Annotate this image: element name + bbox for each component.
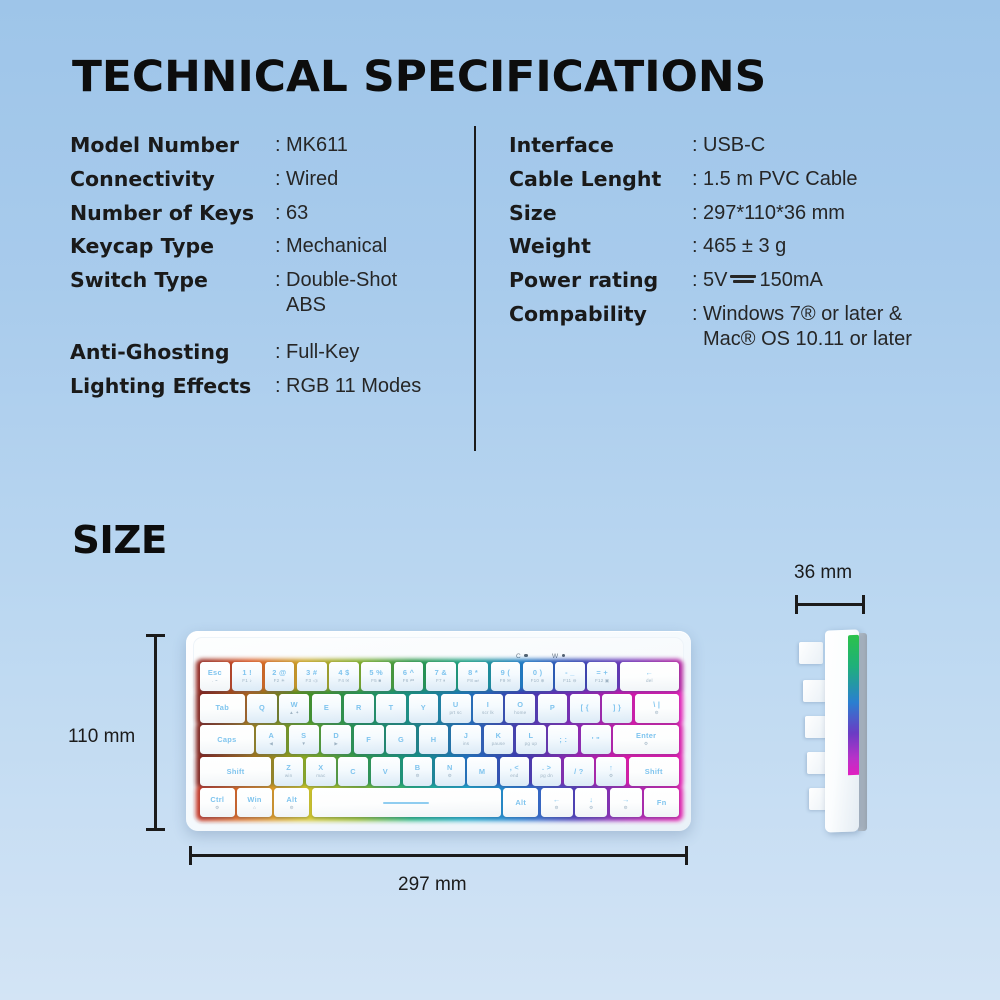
key-space[interactable]: [ { <box>570 694 600 723</box>
section-title-size: SIZE <box>72 518 167 562</box>
key-sublegend: F12 ▣ <box>595 679 610 684</box>
key-e[interactable]: E <box>312 694 342 723</box>
dc-power-symbol-icon <box>730 273 756 285</box>
spec-separator: : <box>275 167 286 192</box>
key-2[interactable]: 2 @F2 ☀ <box>265 662 295 691</box>
key-legend: M <box>479 768 485 775</box>
key-sublegend: F9 ✉ <box>500 679 511 684</box>
dimension-line-depth <box>795 595 865 614</box>
spec-separator: : <box>275 374 286 399</box>
key-legend: / ? <box>574 768 584 775</box>
spec-list-right: Interface:USB-CCable Lenght:1.5 m PVC Ca… <box>509 133 959 361</box>
spec-key: Weight <box>509 234 692 258</box>
key-l[interactable]: Lpg up <box>516 725 546 754</box>
key-legend: X <box>318 764 323 771</box>
key-w[interactable]: W▲ ✦ <box>279 694 309 723</box>
dimension-label-depth: 36 mm <box>794 562 852 584</box>
key-legend: Z <box>286 764 291 771</box>
spec-key: Model Number <box>70 133 275 157</box>
led-dot-icon <box>524 654 527 657</box>
key-legend: Shift <box>227 768 245 775</box>
key-sublegend: end <box>510 774 518 779</box>
key-sublegend: ⚙ <box>589 806 593 811</box>
spec-separator: : <box>275 133 286 158</box>
key-n[interactable]: N⚙ <box>435 757 465 786</box>
key-legend: Alt <box>286 796 297 803</box>
key-sublegend: pg dn <box>540 774 553 779</box>
key-j[interactable]: Jins <box>451 725 481 754</box>
key-sublegend: F7 ⏸ <box>436 679 446 684</box>
key-z[interactable]: Zwin <box>274 757 304 786</box>
key-sublegend: ⚙ <box>555 806 559 811</box>
key-sublegend: F3 ◁ı <box>305 679 317 684</box>
key-alt[interactable]: Alt⚙ <box>274 788 309 817</box>
key-sublegend: home <box>514 711 526 716</box>
key-legend: 7 & <box>435 669 447 676</box>
key-legend: 6 ^ <box>403 669 414 676</box>
spec-key: Keycap Type <box>70 234 275 258</box>
key-space[interactable]: . >pg dn <box>532 757 562 786</box>
key-s[interactable]: S▼ <box>289 725 319 754</box>
key-ctrl[interactable]: Ctrl⚙ <box>200 788 235 817</box>
key-space[interactable]: ↓⚙ <box>575 788 607 817</box>
key-r[interactable]: R <box>344 694 374 723</box>
key-shift[interactable]: Shift <box>200 757 271 786</box>
key-d[interactable]: D▶ <box>321 725 351 754</box>
key-legend: T <box>389 704 394 711</box>
key-legend: , < <box>510 764 519 771</box>
key-legend: Y <box>421 704 426 711</box>
key-space[interactable]: ; : <box>548 725 578 754</box>
key-u[interactable]: Uprt sc <box>441 694 471 723</box>
key-sublegend: mac <box>316 774 325 779</box>
key-legend: Shift <box>645 768 663 775</box>
key-legend: S <box>301 732 306 739</box>
key-sublegend: pause <box>492 742 506 747</box>
key-legend: R <box>356 704 362 711</box>
key-legend: C <box>350 768 356 775</box>
spacebar-indicator <box>383 802 429 805</box>
key-legend: → <box>622 796 630 803</box>
key-legend: V <box>383 768 388 775</box>
key-legend: U <box>453 701 459 708</box>
spec-separator: : <box>692 302 703 327</box>
spec-key: Power rating <box>509 268 692 292</box>
key-row: Esc. ~1 !F1 ♪2 @F2 ☀3 #F3 ◁ı4 $F4 ✉5 %F5… <box>200 662 679 691</box>
spec-list-left: Model Number:MK611Connectivity:WiredNumb… <box>70 133 450 407</box>
spec-row: Switch Type:Double-Shot ABS <box>70 268 450 318</box>
key-legend: Fn <box>657 799 667 806</box>
key-sublegend: ins <box>463 742 469 747</box>
key-space[interactable]: ' " <box>581 725 611 754</box>
key-legend: 4 $ <box>338 669 349 676</box>
key-enter[interactable]: Enter⚙ <box>613 725 679 754</box>
spec-separator: : <box>692 133 703 158</box>
spec-row: Lighting Effects:RGB 11 Modes <box>70 374 450 399</box>
spec-separator: : <box>275 234 286 259</box>
key-legend: 5 % <box>369 669 383 676</box>
key-sublegend: ▶ <box>334 742 338 747</box>
spec-value: USB-C <box>703 133 765 158</box>
spec-value: RGB 11 Modes <box>286 374 421 399</box>
key-sublegend: ⚙ <box>215 806 219 811</box>
key-space[interactable]: \ |⚙ <box>635 694 680 723</box>
key-sublegend: F6 ⏮ <box>403 679 415 684</box>
key-legend: F <box>366 736 371 743</box>
key-alt[interactable]: Alt <box>503 788 538 817</box>
spec-row: Size:297*110*36 mm <box>509 201 959 226</box>
spec-row: Power rating:5V150mA <box>509 268 959 293</box>
key-sublegend: ⚙ <box>609 774 613 779</box>
spec-separator: : <box>692 268 703 293</box>
key-4[interactable]: 4 $F4 ✉ <box>329 662 359 691</box>
key-legend: I <box>487 701 489 708</box>
key-shift[interactable]: Shift <box>629 757 679 786</box>
column-divider <box>474 126 476 451</box>
side-key-row-2 <box>803 680 827 702</box>
key-win[interactable]: Win⌂ <box>237 788 272 817</box>
key-sublegend: . ~ <box>212 679 218 684</box>
key-legend: N <box>447 764 453 771</box>
spec-separator: : <box>692 201 703 226</box>
spec-key: Compability <box>509 302 692 326</box>
key-sublegend: prt sc <box>449 711 461 716</box>
spec-key: Lighting Effects <box>70 374 275 398</box>
spec-key: Size <box>509 201 692 225</box>
led-dot-icon <box>562 654 565 657</box>
spec-separator: : <box>692 234 703 259</box>
key-sublegend: ▲ ✦ <box>289 711 299 716</box>
spec-key: Number of Keys <box>70 201 275 225</box>
spec-separator: : <box>692 167 703 192</box>
key-sublegend: scr lk <box>482 711 494 716</box>
spec-key: Cable Lenght <box>509 167 692 191</box>
key-space[interactable]: ←⚙ <box>541 788 573 817</box>
spec-key: Switch Type <box>70 268 275 292</box>
key-legend: P <box>550 704 555 711</box>
key-legend: \ | <box>653 701 660 708</box>
key-legend: A <box>268 732 274 739</box>
key-f[interactable]: F <box>354 725 384 754</box>
key-sublegend: del <box>646 679 653 684</box>
key-legend: Ctrl <box>210 796 224 803</box>
spec-value: 297*110*36 mm <box>703 201 845 226</box>
key-x[interactable]: Xmac <box>306 757 336 786</box>
key-b[interactable]: B⚙ <box>403 757 433 786</box>
key-caps[interactable]: Caps <box>200 725 254 754</box>
key-3[interactable]: 3 #F3 ◁ı <box>297 662 327 691</box>
key-legend: Tab <box>216 704 230 711</box>
key-9[interactable]: 9 (F9 ✉ <box>491 662 521 691</box>
key-legend: . > <box>542 764 551 771</box>
key-legend: H <box>431 736 437 743</box>
spec-value: 465 ± 3 g <box>703 234 786 259</box>
key-legend: Win <box>247 796 261 803</box>
key-q[interactable]: Q <box>247 694 277 723</box>
key-o[interactable]: Ohome <box>505 694 535 723</box>
side-key-row-1 <box>799 642 823 664</box>
spec-row: Cable Lenght:1.5 m PVC Cable <box>509 167 959 192</box>
spec-row: Model Number:MK611 <box>70 133 450 158</box>
key-v[interactable]: V <box>371 757 401 786</box>
key-legend: Esc <box>208 669 222 676</box>
key-sublegend: F10 ⊕ <box>531 679 545 684</box>
key-g[interactable]: G <box>386 725 416 754</box>
key-sublegend: ⚙ <box>655 711 659 716</box>
key-legend: D <box>333 732 339 739</box>
key-row: TabQW▲ ✦ERTYUprt scIscr lkOhomeP[ {] }\ … <box>200 694 679 723</box>
key-row: ShiftZwinXmacCVB⚙N⚙M, <end. >pg dn/ ?↑⚙S… <box>200 757 679 786</box>
key-legend: ↓ <box>589 796 593 803</box>
spec-value: Double-Shot ABS <box>286 268 397 318</box>
key-row: CapsA◀S▼D▶FGHJinsKpauseLpg up; :' "Enter… <box>200 725 679 754</box>
key-6[interactable]: 6 ^F6 ⏮ <box>394 662 424 691</box>
key-legend: W <box>291 701 298 708</box>
key-legend: 9 ( <box>501 669 511 676</box>
spec-separator: : <box>275 268 286 293</box>
key-i[interactable]: Iscr lk <box>473 694 503 723</box>
key-legend: Q <box>259 704 265 711</box>
key-p[interactable]: P <box>538 694 568 723</box>
key-t[interactable]: T <box>376 694 406 723</box>
key-sublegend: pg up <box>525 742 538 747</box>
key-sublegend: ⚙ <box>624 806 628 811</box>
key-sublegend: ▼ <box>301 742 306 747</box>
key-sublegend: ⚙ <box>448 774 452 779</box>
key-legend: G <box>398 736 404 743</box>
dimension-line-width <box>189 846 688 865</box>
key-space[interactable] <box>312 788 501 817</box>
key-sublegend: ⚙ <box>415 774 419 779</box>
key-sublegend: F2 ☀ <box>274 679 286 684</box>
key-legend: Alt <box>515 799 526 806</box>
key-8[interactable]: 8 *F8 ⏭ <box>458 662 488 691</box>
key-legend: Enter <box>636 732 656 739</box>
spec-separator: : <box>275 201 286 226</box>
spec-row: Connectivity:Wired <box>70 167 450 192</box>
spec-key: Interface <box>509 133 692 157</box>
key-legend: E <box>324 704 329 711</box>
spec-row: Interface:USB-C <box>509 133 959 158</box>
key-space[interactable]: →⚙ <box>610 788 642 817</box>
key-sublegend: F11 ⊖ <box>563 679 577 684</box>
dimension-line-height <box>146 634 165 831</box>
key-legend: J <box>464 732 468 739</box>
page-title-specifications: TECHNICAL SPECIFICATIONS <box>72 52 766 102</box>
key-legend: 2 @ <box>272 669 286 676</box>
spec-value: Windows 7® or later & Mac® OS 10.11 or l… <box>703 302 912 352</box>
spec-key: Anti-Ghosting <box>70 340 275 364</box>
key-legend: 1 ! <box>242 669 252 676</box>
key-space[interactable]: ↑⚙ <box>596 757 626 786</box>
spec-value: Wired <box>286 167 338 192</box>
key-space[interactable]: - _F11 ⊖ <box>555 662 585 691</box>
key-tab[interactable]: Tab <box>200 694 245 723</box>
key-sublegend: F5 ■ <box>371 679 381 684</box>
side-rgb-light-strip <box>848 635 859 775</box>
key-sublegend: F8 ⏭ <box>467 679 479 684</box>
key-space[interactable]: = +F12 ▣ <box>587 662 617 691</box>
spec-row: Anti-Ghosting:Full-Key <box>70 340 450 365</box>
key-a[interactable]: A◀ <box>256 725 286 754</box>
dimension-label-width: 297 mm <box>398 874 467 896</box>
key-legend: O <box>517 701 523 708</box>
key-grid: Esc. ~1 !F1 ♪2 @F2 ☀3 #F3 ◁ı4 $F4 ✉5 %F5… <box>200 662 679 820</box>
key-legend: ← <box>553 796 561 803</box>
key-legend: ← <box>645 669 653 676</box>
side-back-panel <box>858 633 867 831</box>
key-7[interactable]: 7 &F7 ⏸ <box>426 662 456 691</box>
key-h[interactable]: H <box>419 725 449 754</box>
spec-key: Connectivity <box>70 167 275 191</box>
key-sublegend: F1 ♪ <box>242 679 252 684</box>
key-sublegend: F4 ✉ <box>338 679 349 684</box>
dimension-label-height: 110 mm <box>68 726 135 748</box>
key-fn[interactable]: Fn <box>644 788 679 817</box>
key-legend: 3 # <box>306 669 317 676</box>
key-0[interactable]: 0 )F10 ⊕ <box>523 662 553 691</box>
infographic-page: TECHNICAL SPECIFICATIONS Model Number:MK… <box>0 0 1000 1000</box>
key-legend: ; : <box>559 736 567 743</box>
keyboard-top-view: C W Esc. ~1 !F1 ♪2 @F2 ☀3 #F3 ◁ı4 $F4 ✉5… <box>186 631 691 831</box>
key-space[interactable]: ] } <box>602 694 632 723</box>
spec-row: Weight:465 ± 3 g <box>509 234 959 259</box>
key-legend: L <box>528 732 533 739</box>
spec-value: 5V150mA <box>703 268 823 293</box>
key-sublegend: ⚙ <box>644 742 648 747</box>
key-m[interactable]: M <box>467 757 497 786</box>
key-y[interactable]: Y <box>409 694 439 723</box>
spec-row: Number of Keys:63 <box>70 201 450 226</box>
key-legend: - _ <box>565 669 575 676</box>
key-space[interactable]: / ? <box>564 757 594 786</box>
key-legend: ' " <box>592 736 600 743</box>
spec-value: 1.5 m PVC Cable <box>703 167 858 192</box>
key-5[interactable]: 5 %F5 ■ <box>361 662 391 691</box>
key-c[interactable]: C <box>338 757 368 786</box>
spec-row: Compability:Windows 7® or later & Mac® O… <box>509 302 959 352</box>
key-sublegend: win <box>285 774 293 779</box>
key-legend: = + <box>596 669 608 676</box>
key-legend: 8 * <box>468 669 478 676</box>
key-space[interactable]: ←del <box>620 662 679 691</box>
spec-row: Keycap Type:Mechanical <box>70 234 450 259</box>
spec-separator: : <box>275 340 286 365</box>
key-row: Ctrl⚙Win⌂Alt⚙Alt←⚙↓⚙→⚙Fn <box>200 788 679 817</box>
key-legend: 0 ) <box>533 669 543 676</box>
key-k[interactable]: Kpause <box>484 725 514 754</box>
key-space[interactable]: , <end <box>500 757 530 786</box>
key-sublegend: ⚙ <box>290 806 294 811</box>
key-sublegend: ⌂ <box>253 806 256 811</box>
spec-value: Full-Key <box>286 340 359 365</box>
spec-value: 63 <box>286 201 308 226</box>
key-legend: Caps <box>217 736 236 743</box>
key-legend: [ { <box>581 704 589 711</box>
key-legend: K <box>496 732 502 739</box>
key-sublegend: ◀ <box>269 742 273 747</box>
keyboard-side-view <box>795 622 891 840</box>
spec-value: MK611 <box>286 133 348 158</box>
key-esc[interactable]: Esc. ~ <box>200 662 230 691</box>
key-1[interactable]: 1 !F1 ♪ <box>232 662 262 691</box>
key-legend: B <box>415 764 421 771</box>
key-legend: ↑ <box>609 764 613 771</box>
spec-value: Mechanical <box>286 234 387 259</box>
key-legend: ] } <box>613 704 621 711</box>
